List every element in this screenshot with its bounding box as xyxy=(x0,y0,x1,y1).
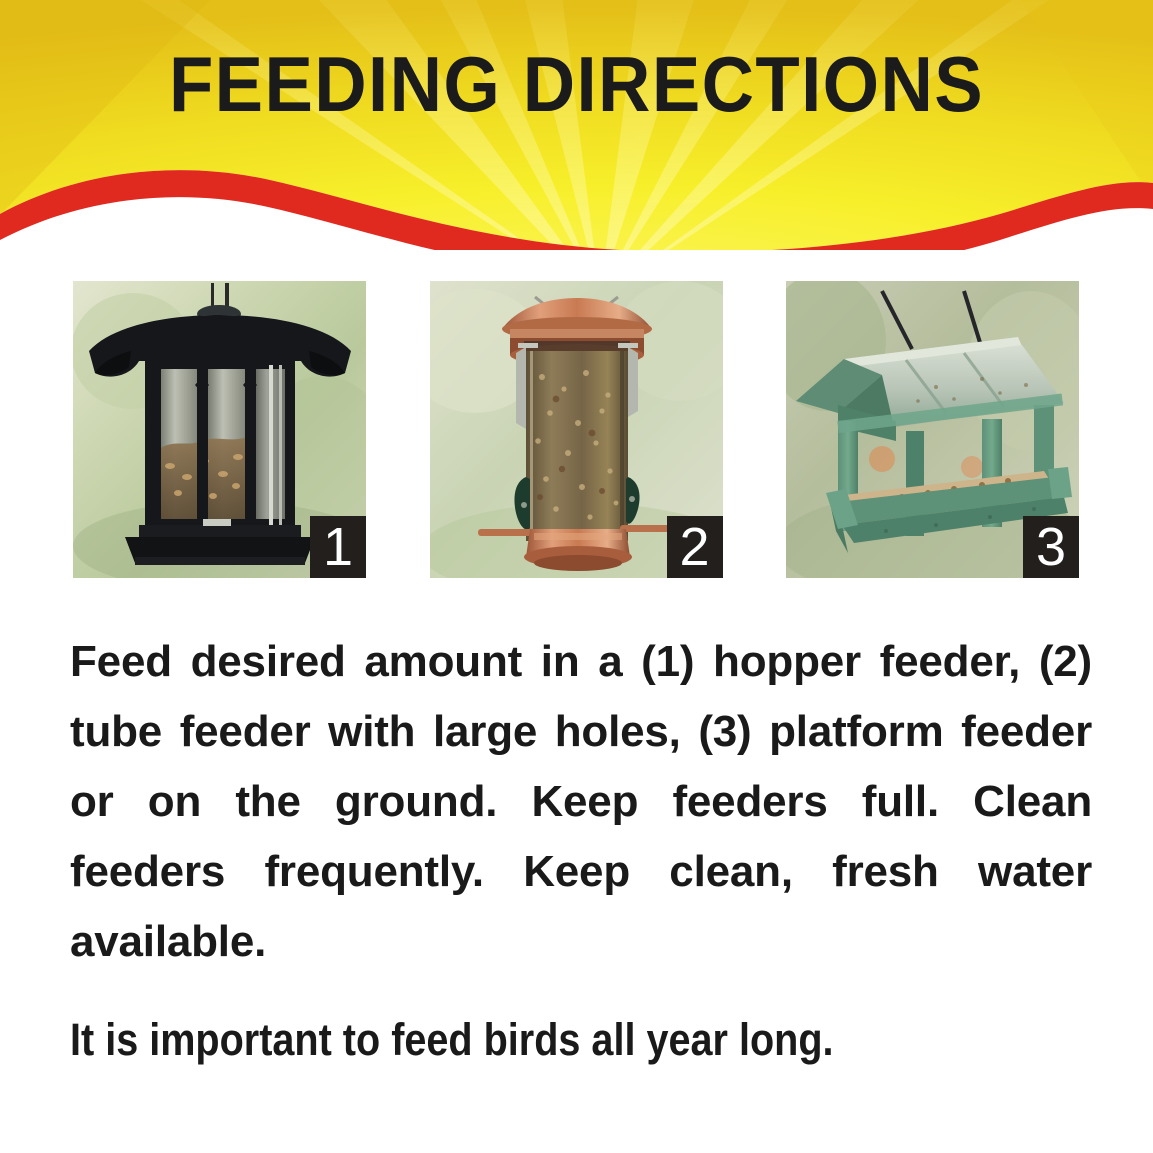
tube-feeder-photo: 2 xyxy=(430,281,723,578)
closing-statement: It is important to feed birds all year l… xyxy=(70,1012,969,1068)
photo-badge-3: 3 xyxy=(1023,516,1079,578)
platform-feeder-photo: 3 xyxy=(786,281,1079,578)
page-title: FEEDING DIRECTIONS xyxy=(40,44,1112,124)
photo-badge-2: 2 xyxy=(667,516,723,578)
feeder-photo-row: 1 xyxy=(73,281,1079,578)
hopper-feeder-photo: 1 xyxy=(73,281,366,578)
photo-badge-1: 1 xyxy=(310,516,366,578)
feeding-directions-panel: FEEDING DIRECTIONS xyxy=(0,0,1153,1153)
header-banner: FEEDING DIRECTIONS xyxy=(0,0,1153,250)
feeding-instructions-paragraph: Feed desired amount in a (1) hopper feed… xyxy=(70,627,1092,1047)
